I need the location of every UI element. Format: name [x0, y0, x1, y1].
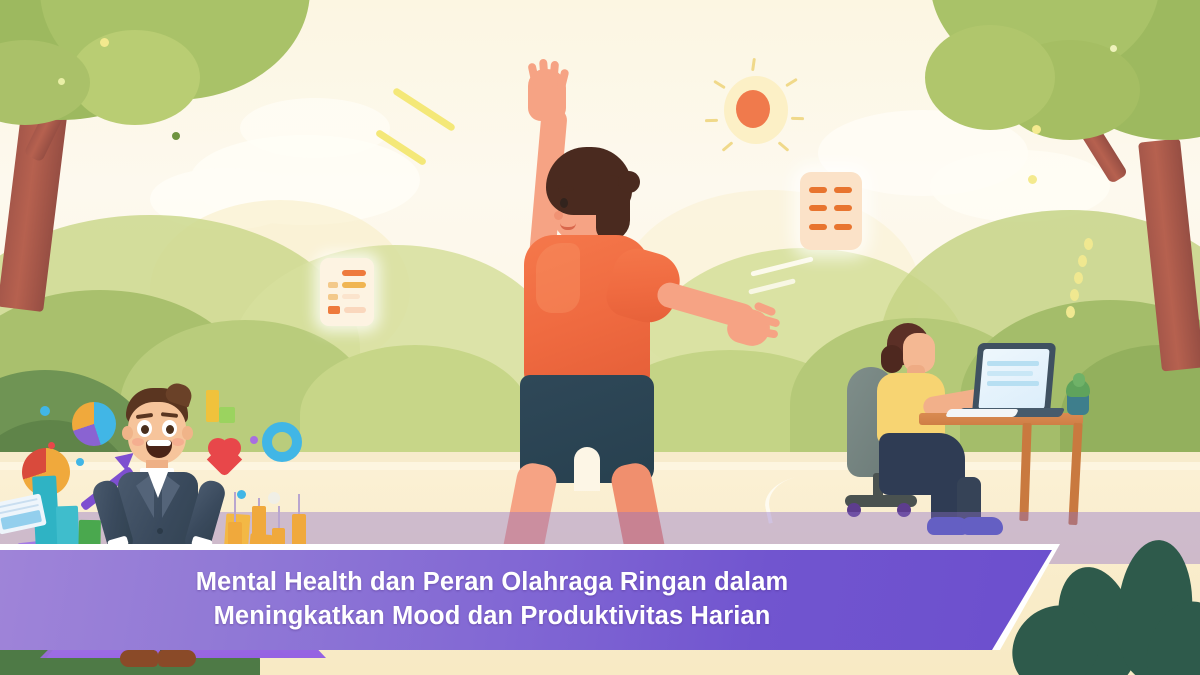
businessman-ear [122, 426, 133, 440]
businessman-ear [182, 426, 193, 440]
cloud-shape [240, 98, 390, 158]
person-shorts-gap [574, 447, 600, 491]
banner-title-line-2: Meningkatkan Mood dan Produktivitas Hari… [214, 600, 771, 634]
decor-dot [250, 436, 258, 444]
businessman-cheek [172, 438, 184, 446]
leaf-highlight [1028, 175, 1037, 184]
decor-dot [40, 406, 50, 416]
tree-canopy [925, 25, 1055, 130]
banner-text-block: Mental Health dan Peran Olahraga Ringan … [0, 550, 960, 650]
person-shirt-highlight [536, 243, 580, 313]
laptop-screen-line [987, 361, 1039, 366]
decor-dot [48, 442, 55, 449]
desk-worker-scene [835, 305, 1120, 540]
desk-leg [1019, 423, 1031, 521]
businessman-shoe [158, 650, 196, 667]
ring-donut-icon [262, 422, 302, 462]
businessman-cheek [132, 438, 144, 446]
leaf-highlight [172, 132, 180, 140]
person-eye [560, 198, 568, 208]
banner-title-line-1: Mental Health dan Peran Olahraga Ringan … [196, 566, 789, 600]
laptop-screen-line [987, 381, 1039, 386]
businessman-shoe [120, 650, 158, 667]
title-banner: Mental Health dan Peran Olahraga Ringan … [0, 544, 1060, 650]
person-hair-bun [618, 171, 640, 193]
stretching-person [470, 55, 770, 535]
businessman-button [157, 528, 163, 534]
laptop-screen [978, 349, 1049, 409]
motion-lines [370, 100, 480, 190]
leaf-highlight [1078, 255, 1087, 267]
businessman-pupil [166, 425, 174, 434]
person-finger [539, 59, 549, 87]
desk-leg [1068, 423, 1082, 525]
leaf-highlight [100, 38, 109, 47]
laptop-keyboard [945, 409, 1019, 417]
leaf-highlight [1084, 238, 1093, 250]
checklist-card-icon [320, 258, 374, 326]
leaf-highlight [1070, 289, 1079, 301]
plant-leaves [1073, 373, 1085, 387]
businessman-pupil [141, 425, 149, 434]
leaf-highlight [1110, 45, 1117, 52]
person-nose [554, 211, 563, 220]
illustration-canvas: Mental Health dan Peran Olahraga Ringan … [0, 0, 1200, 675]
laptop-screen-line [987, 371, 1033, 376]
leaf-highlight [1074, 272, 1083, 284]
leaf-highlight [1032, 125, 1041, 134]
document-list-icon [800, 172, 862, 250]
worker-hair-bun [881, 345, 903, 373]
businessman-teeth [147, 440, 171, 446]
leaf-highlight [58, 78, 65, 85]
